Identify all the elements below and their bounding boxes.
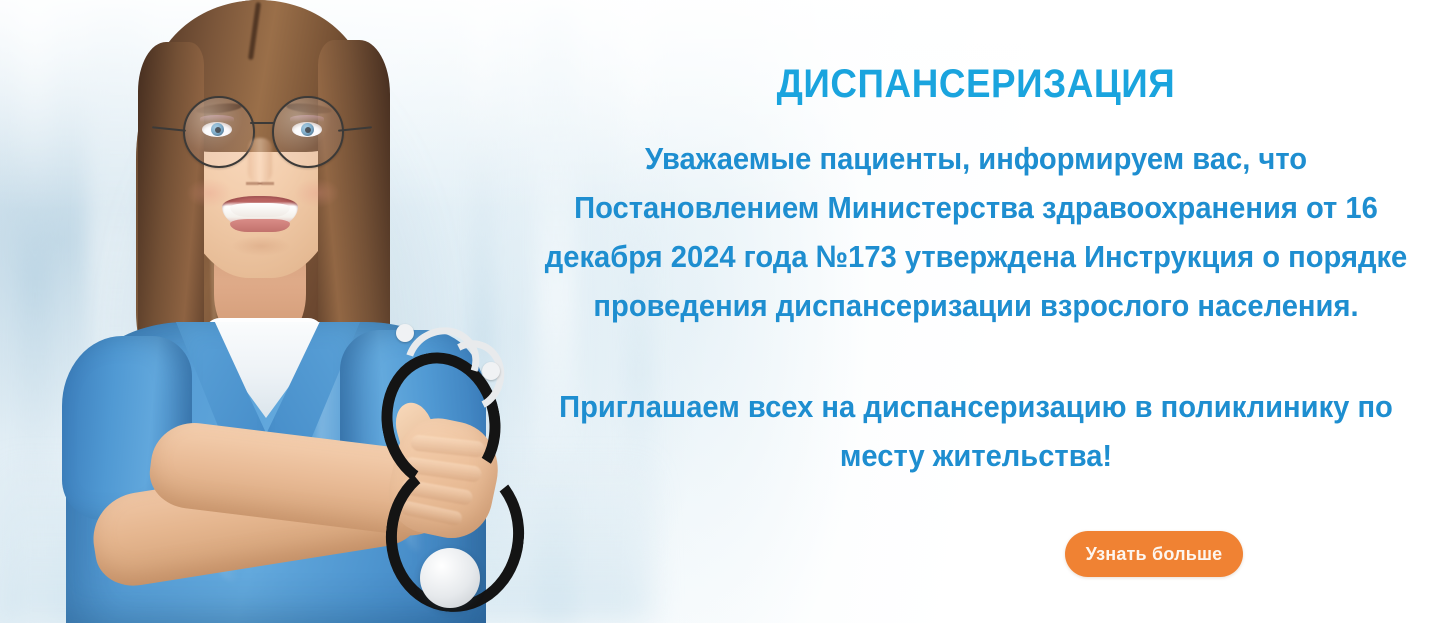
banner-paragraph-invitation: Приглашаем всех на диспансеризацию в пол… (536, 382, 1416, 480)
eyeglasses-lens-left (183, 96, 255, 168)
doctor-photo (0, 0, 560, 623)
banner-paragraph-primary: Уважаемые пациенты, информируем вас, что… (536, 134, 1416, 330)
stethoscope-eartip-left (396, 324, 414, 342)
dispensary-promo-banner: ДИСПАНСЕРИЗАЦИЯ Уважаемые пациенты, инфо… (0, 0, 1452, 623)
eyeglasses-lens-right (272, 96, 344, 168)
nostrils (246, 180, 274, 187)
teeth (230, 203, 290, 217)
learn-more-button[interactable]: Узнать больше (1065, 531, 1243, 577)
banner-content: ДИСПАНСЕРИЗАЦИЯ Уважаемые пациенты, инфо… (500, 0, 1452, 623)
cheek-right (294, 178, 340, 208)
stethoscope-chestpiece (420, 548, 480, 608)
banner-headline: ДИСПАНСЕРИЗАЦИЯ (538, 62, 1414, 107)
chin-shadow (232, 236, 290, 256)
nose (248, 138, 272, 184)
lower-lip (230, 219, 290, 232)
stethoscope-eartip-right (482, 362, 500, 380)
